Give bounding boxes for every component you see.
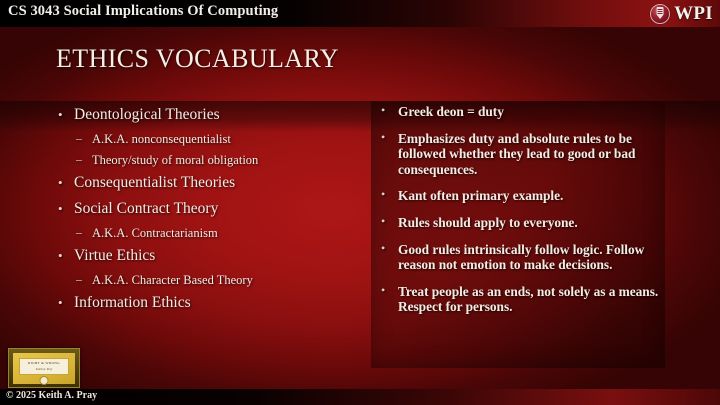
list-item: –A.K.A. Character Based Theory — [56, 273, 356, 288]
list-item-text: Virtue Ethics — [74, 247, 155, 264]
list-item: •Treat people as an ends, not solely as … — [378, 284, 660, 315]
list-item-text: Consequentialist Theories — [74, 174, 235, 191]
list-item-text: Deontological Theories — [74, 106, 220, 123]
bullet-glyph: • — [58, 200, 63, 217]
right-and-wrong-slide-thumbnail[interactable]: RIGHT & WRONG Keith A. Pray — [8, 348, 80, 388]
bullet-glyph: • — [381, 241, 385, 257]
slide-canvas: CS 3043 Social Implications Of Computing… — [0, 0, 720, 405]
bullet-glyph: • — [58, 174, 63, 191]
list-item-text: Rules should apply to everyone. — [398, 215, 578, 230]
list-item: •Greek deon = duty — [378, 104, 660, 120]
bullet-glyph: • — [381, 103, 385, 119]
list-item: –A.K.A. Contractarianism — [56, 226, 356, 241]
bullet-glyph: • — [381, 187, 385, 203]
list-item-text: Information Ethics — [74, 294, 191, 311]
bullet-glyph: • — [381, 283, 385, 299]
page-title: ETHICS VOCABULARY — [56, 44, 339, 74]
wpi-brand: WPI — [650, 1, 713, 26]
bullet-glyph: • — [381, 214, 385, 230]
bullet-glyph: – — [76, 272, 82, 287]
slide-footer-bar: © 2025 Keith A. Pray — [0, 389, 720, 405]
bullet-glyph: – — [76, 225, 82, 240]
list-item-text: Good rules intrinsically follow logic. F… — [398, 242, 644, 273]
course-title: CS 3043 Social Implications Of Computing — [8, 3, 278, 20]
bullet-glyph: – — [76, 131, 82, 146]
list-item-text: Emphasizes duty and absolute rules to be… — [398, 131, 635, 177]
list-item-text: A.K.A. nonconsequentialist — [92, 132, 231, 146]
right-content-column: •Greek deon = duty •Emphasizes duty and … — [378, 104, 660, 326]
list-item-text: A.K.A. Contractarianism — [92, 226, 218, 240]
list-item: •Emphasizes duty and absolute rules to b… — [378, 131, 660, 178]
thumbnail-title: RIGHT & WRONG — [20, 361, 68, 365]
thumbnail-subtitle: Keith A. Pray — [20, 367, 68, 371]
bullet-glyph: • — [381, 130, 385, 146]
wpi-crest-seal-icon — [650, 4, 670, 24]
list-item: •Rules should apply to everyone. — [378, 215, 660, 231]
left-bullet-list: •Deontological Theories –A.K.A. nonconse… — [56, 106, 356, 311]
bullet-glyph: • — [58, 294, 63, 311]
copyright-notice: © 2025 Keith A. Pray — [6, 390, 97, 401]
list-item: –Theory/study of moral obligation — [56, 153, 356, 168]
thumbnail-image: RIGHT & WRONG Keith A. Pray — [13, 353, 75, 384]
list-item: •Good rules intrinsically follow logic. … — [378, 242, 660, 273]
left-content-column: •Deontological Theories –A.K.A. nonconse… — [56, 106, 356, 320]
list-item-text: Greek deon = duty — [398, 104, 504, 119]
list-item: –A.K.A. nonconsequentialist — [56, 132, 356, 147]
list-item: •Virtue Ethics — [56, 247, 356, 264]
bullet-glyph: • — [58, 106, 63, 123]
thumbnail-seal-icon — [40, 376, 49, 385]
list-item: •Social Contract Theory — [56, 200, 356, 217]
right-bullet-list: •Greek deon = duty •Emphasizes duty and … — [378, 104, 660, 315]
list-item-text: Kant often primary example. — [398, 188, 563, 203]
bullet-glyph: • — [58, 247, 63, 264]
list-item-text: Treat people as an ends, not solely as a… — [398, 284, 658, 315]
list-item: •Kant often primary example. — [378, 188, 660, 204]
bullet-glyph: – — [76, 152, 82, 167]
list-item: •Consequentialist Theories — [56, 174, 356, 191]
list-item-text: Theory/study of moral obligation — [92, 153, 258, 167]
list-item: •Deontological Theories — [56, 106, 356, 123]
list-item: •Information Ethics — [56, 294, 356, 311]
thumbnail-card: RIGHT & WRONG Keith A. Pray — [19, 358, 69, 375]
slide-header-bar: CS 3043 Social Implications Of Computing… — [0, 0, 720, 27]
list-item-text: Social Contract Theory — [74, 200, 218, 217]
wpi-wordmark: WPI — [674, 4, 713, 23]
list-item-text: A.K.A. Character Based Theory — [92, 273, 253, 287]
